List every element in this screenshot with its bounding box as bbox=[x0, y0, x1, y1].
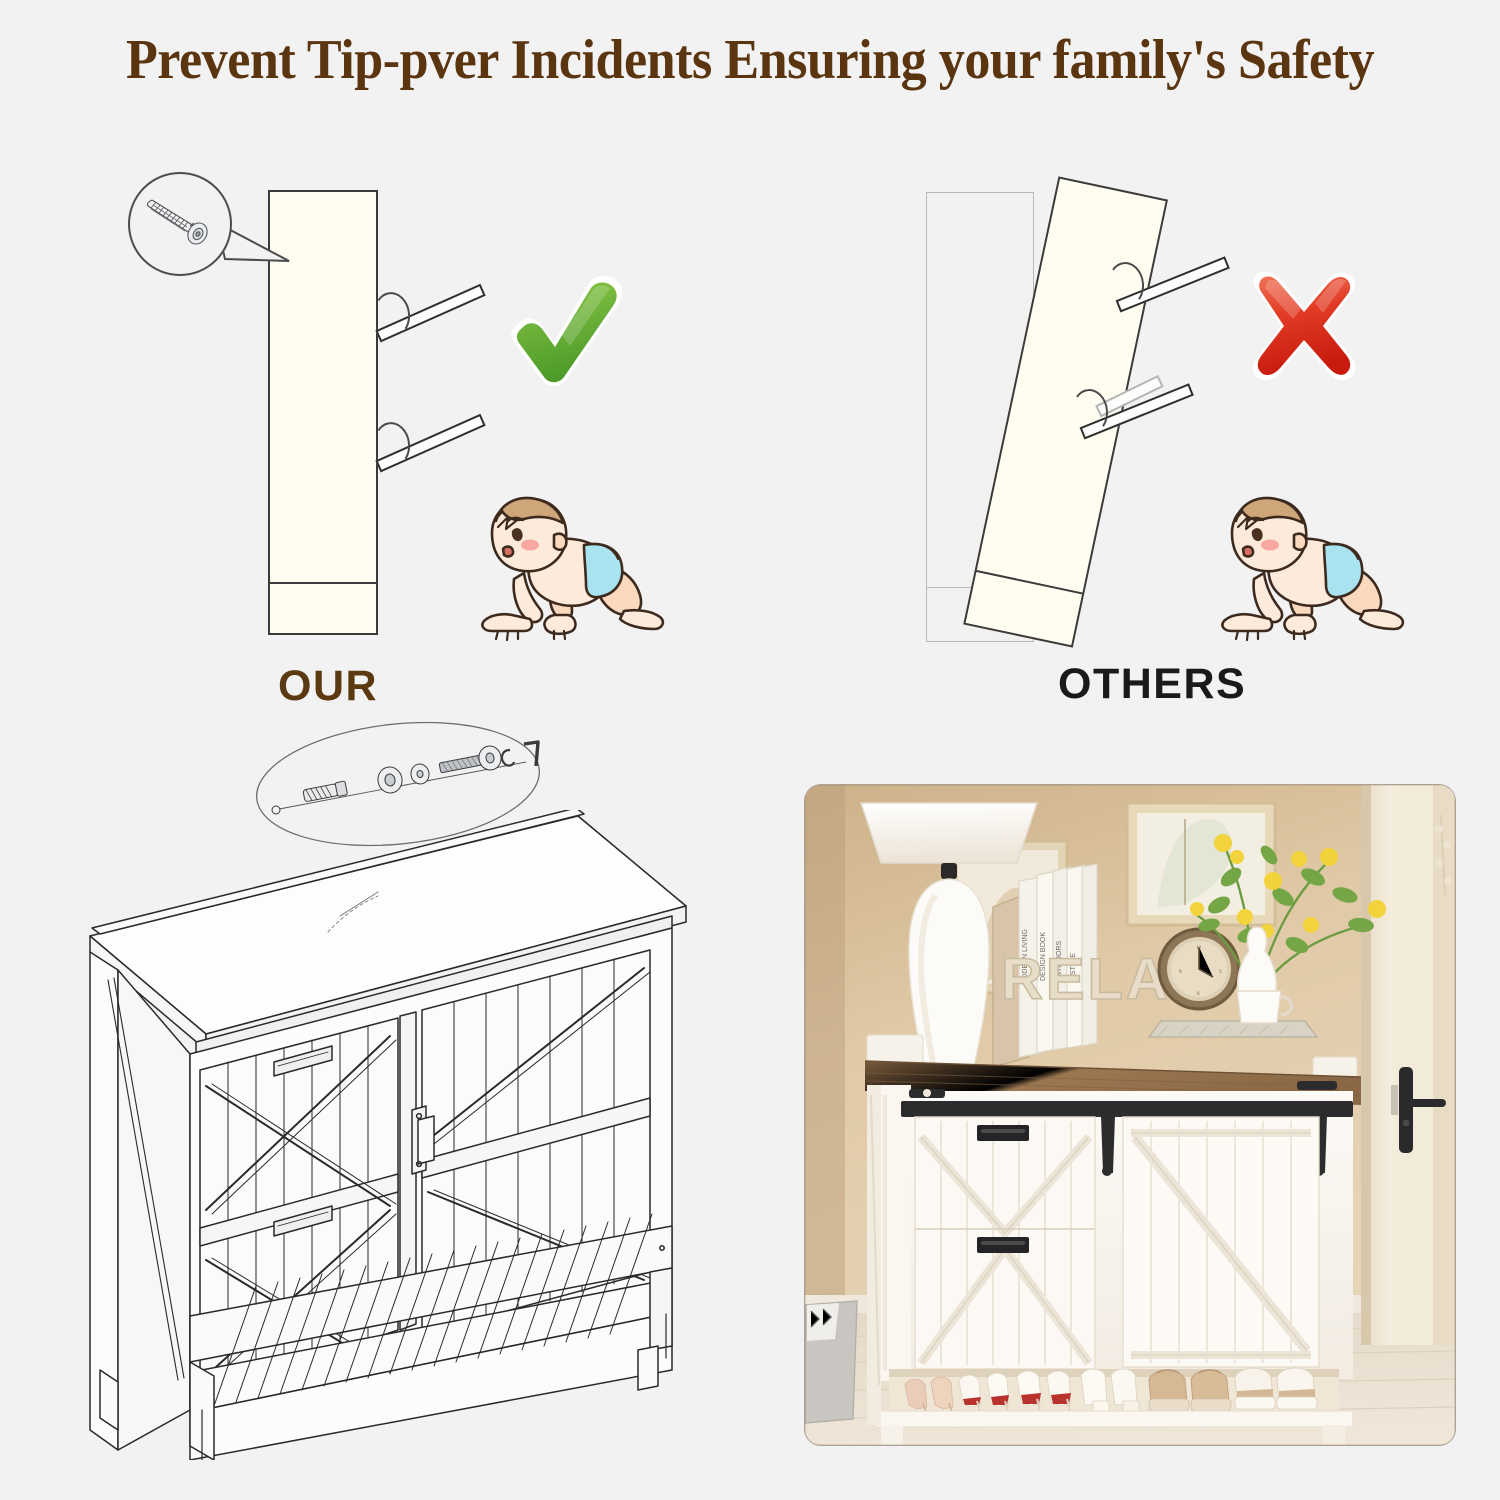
cabinet bbox=[865, 1035, 1361, 1445]
barn-door-shoe-cabinet-lineart bbox=[78, 810, 698, 1460]
tan-sneaker-2 bbox=[1191, 1370, 1231, 1411]
gray-fabric-basket bbox=[805, 1301, 857, 1423]
label-others: OTHERS bbox=[1058, 660, 1246, 709]
others-cabinet-plinth-line bbox=[976, 570, 1082, 594]
wall-anchor-screw-icon bbox=[142, 196, 222, 256]
photo-scene: MODERN LIVING DESIGN BOOK INTERIORS STYL… bbox=[805, 785, 1455, 1445]
lamp-neck bbox=[941, 863, 957, 879]
lamp-shade bbox=[861, 803, 1037, 863]
round-vintage-desk-clock: 123 69 bbox=[1159, 929, 1239, 1009]
product-lineart-drawing bbox=[78, 810, 698, 1465]
crawling-baby-icon bbox=[468, 487, 678, 652]
cabinet-leg-right bbox=[1323, 1425, 1345, 1445]
red-cross-badge bbox=[1243, 268, 1365, 391]
infographic-canvas: Prevent Tip-pver Incidents Ensuring your… bbox=[0, 0, 1500, 1500]
our-cabinet-plinth-line bbox=[270, 582, 376, 584]
tan-sneaker-1 bbox=[1149, 1370, 1189, 1411]
entry-door bbox=[1361, 785, 1455, 1345]
cabinet-door-right[interactable] bbox=[1123, 1117, 1319, 1367]
woven-tray bbox=[1149, 1021, 1317, 1037]
black-lever-handle bbox=[1406, 1099, 1446, 1107]
white-sneaker-2 bbox=[1277, 1368, 1317, 1409]
crawling-baby-left bbox=[468, 487, 678, 657]
page-title: Prevent Tip-pver Incidents Ensuring your… bbox=[53, 28, 1448, 92]
crawling-baby-right bbox=[1208, 487, 1418, 657]
label-our: OUR bbox=[278, 662, 378, 711]
entryway-shoe-cabinet-photo: MODERN LIVING DESIGN BOOK INTERIORS STYL… bbox=[805, 785, 1455, 1445]
crawling-baby-icon bbox=[1208, 487, 1418, 652]
cabinet-leg-left bbox=[881, 1425, 903, 1445]
svg-text:12: 12 bbox=[1196, 946, 1202, 951]
green-check-badge bbox=[498, 272, 628, 397]
red-cross-icon bbox=[1243, 268, 1365, 386]
door-handle-plate bbox=[1399, 1067, 1413, 1153]
green-check-icon bbox=[498, 272, 628, 392]
white-sneaker-1 bbox=[1235, 1368, 1275, 1409]
cabinet-door-left[interactable] bbox=[915, 1117, 1095, 1369]
barn-door-track bbox=[901, 1101, 1353, 1117]
